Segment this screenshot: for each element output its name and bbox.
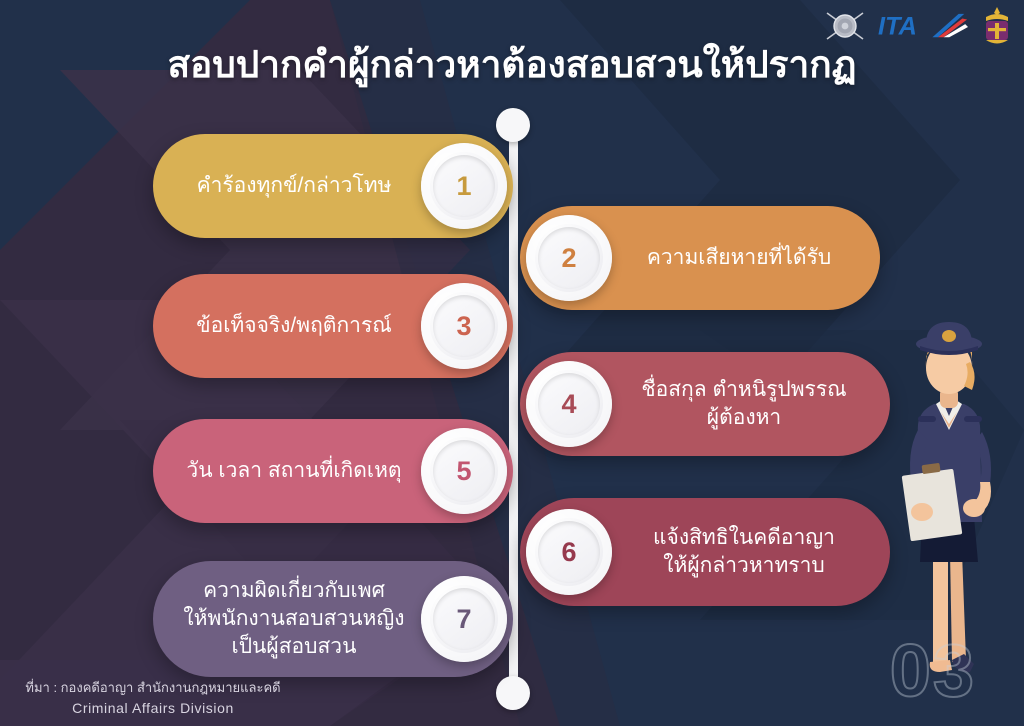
- step-badge-4: 4: [526, 361, 612, 447]
- step-number-5: 5: [433, 440, 495, 502]
- section-number-watermark: 03: [890, 634, 976, 708]
- step-item-3: ข้อเท็จจริง/พฤติการณ์3: [153, 274, 513, 378]
- ita-logo: ITA: [878, 11, 968, 41]
- step-number-2: 2: [538, 227, 600, 289]
- step-number-6: 6: [538, 521, 600, 583]
- step-label-5: วัน เวลา สถานที่เกิดเหตุ: [153, 457, 415, 485]
- step-badge-2: 2: [526, 215, 612, 301]
- step-number-1: 1: [433, 155, 495, 217]
- infographic-canvas: ITA สอบปากคำผู้กล่าวหาต้องสอบสวนให้ปรากฏ…: [0, 0, 1024, 726]
- step-number-3: 3: [433, 295, 495, 357]
- step-item-6: 6แจ้งสิทธิในคดีอาญา ให้ผู้กล่าวหาทราบ: [520, 498, 890, 606]
- step-item-2: 2ความเสียหายที่ได้รับ: [520, 206, 880, 310]
- ita-logo-icon: ITA: [878, 11, 968, 41]
- step-label-3: ข้อเท็จจริง/พฤติการณ์: [153, 312, 415, 340]
- timeline-cap-bottom: [496, 676, 530, 710]
- step-label-1: คำร้องทุกข์/กล่าวโทษ: [153, 172, 415, 200]
- step-item-5: วัน เวลา สถานที่เกิดเหตุ5: [153, 419, 513, 523]
- footer-source-english: Criminal Affairs Division: [8, 698, 298, 718]
- step-label-7: ความผิดเกี่ยวกับเพศ ให้พนักงานสอบสวนหญิง…: [153, 577, 415, 660]
- step-item-4: 4ชื่อสกุล ตำหนิรูปพรรณ ผู้ต้องหา: [520, 352, 890, 456]
- step-number-4: 4: [538, 373, 600, 435]
- step-badge-7: 7: [421, 576, 507, 662]
- step-item-7: ความผิดเกี่ยวกับเพศ ให้พนักงานสอบสวนหญิง…: [153, 561, 513, 677]
- royal-thai-police-emblem-icon: [824, 6, 866, 46]
- svg-text:ITA: ITA: [878, 12, 917, 40]
- step-label-4: ชื่อสกุล ตำหนิรูปพรรณ ผู้ต้องหา: [618, 376, 890, 431]
- page-title: สอบปากคำผู้กล่าวหาต้องสอบสวนให้ปรากฏ: [0, 42, 1024, 88]
- step-badge-1: 1: [421, 143, 507, 229]
- footer-source: ที่มา : กองคดีอาญา สำนักงานกฎหมายและคดี …: [8, 679, 298, 718]
- footer-source-thai: ที่มา : กองคดีอาญา สำนักงานกฎหมายและคดี: [8, 679, 298, 698]
- step-badge-3: 3: [421, 283, 507, 369]
- step-label-6: แจ้งสิทธิในคดีอาญา ให้ผู้กล่าวหาทราบ: [618, 524, 890, 579]
- step-number-7: 7: [433, 588, 495, 650]
- step-item-1: คำร้องทุกข์/กล่าวโทษ1: [153, 134, 513, 238]
- step-badge-5: 5: [421, 428, 507, 514]
- timeline-cap-top: [496, 108, 530, 142]
- step-label-2: ความเสียหายที่ได้รับ: [618, 244, 880, 272]
- step-badge-6: 6: [526, 509, 612, 595]
- garuda-emblem-icon: [980, 6, 1014, 46]
